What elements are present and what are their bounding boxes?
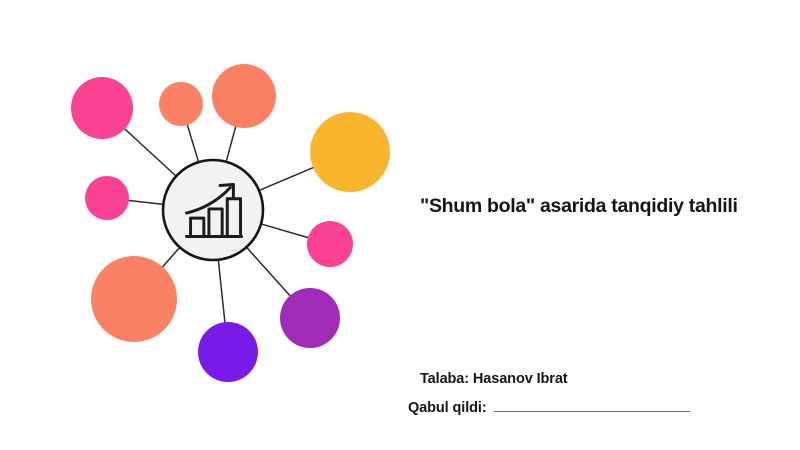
- connector-line: [226, 126, 236, 161]
- approver-signature-line[interactable]: [494, 411, 690, 412]
- connector-line: [262, 224, 309, 238]
- node-coral-large-bottom-left[interactable]: [91, 256, 177, 342]
- node-pink-large-top-left[interactable]: [71, 77, 133, 139]
- connector-line: [260, 167, 314, 190]
- hub-group[interactable]: [163, 160, 263, 260]
- node-coral-large-top[interactable]: [212, 64, 276, 128]
- connector-line: [187, 124, 198, 161]
- node-violet-bottom[interactable]: [198, 322, 258, 382]
- diagram-svg: [0, 0, 400, 450]
- node-coral-small-top[interactable]: [159, 82, 203, 126]
- connector-line: [124, 128, 175, 175]
- approver-label: Qabul qildi:: [408, 400, 487, 416]
- approver-row: Qabul qildi:: [408, 400, 690, 416]
- page-title: "Shum bola" asarida tanqidiy tahlili: [420, 194, 790, 218]
- node-pink-small-right[interactable]: [307, 221, 353, 267]
- node-pink-small-left[interactable]: [85, 176, 129, 220]
- text-column: "Shum bola" asarida tanqidiy tahlili Tal…: [400, 0, 800, 450]
- connector-line: [128, 200, 162, 204]
- node-amber-right[interactable]: [310, 112, 390, 192]
- connector-line: [247, 248, 291, 297]
- node-purple-magenta-bottom-right[interactable]: [280, 288, 340, 348]
- slide-canvas: "Shum bola" asarida tanqidiy tahlili Tal…: [0, 0, 800, 450]
- connector-line: [162, 248, 179, 268]
- connector-line: [218, 261, 225, 324]
- student-name-line: Talaba: Hasanov Ibrat: [420, 371, 568, 387]
- radial-diagram-graphic: [0, 0, 400, 450]
